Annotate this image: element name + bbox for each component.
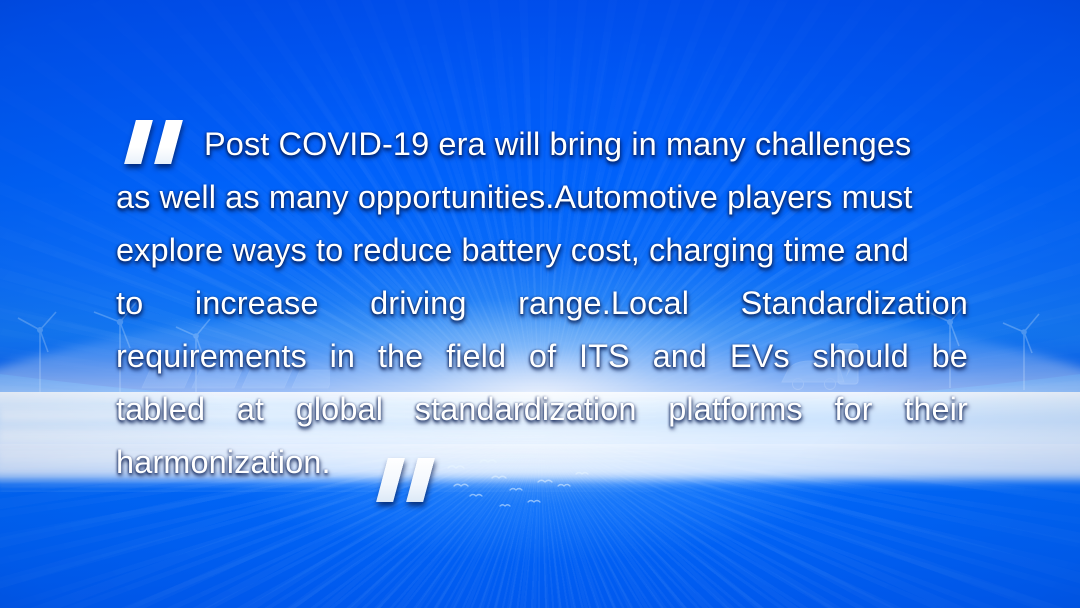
quote-text-block: Post COVID-19 era will bring in many cha… [116,118,968,489]
quote-word: standardization [415,383,637,436]
quote-line: Post COVID-19 era will bring in many cha… [116,118,968,171]
quote-line: tabledatglobalstandardizationplatformsfo… [116,383,968,436]
quote-word: their [904,383,968,436]
quote-word: be [932,330,968,383]
quote-word: platforms [668,383,803,436]
quote-word: global [296,383,383,436]
quote-word: driving [370,277,466,330]
quote-word: Standardization [741,277,968,330]
quote-word: increase [195,277,319,330]
quote-word: should [812,330,908,383]
quote-word: of [529,330,556,383]
quote-line: toincreasedrivingrange.LocalStandardizat… [116,277,968,330]
quote-line: explore ways to reduce battery cost, cha… [116,224,968,277]
quote-word: ITS [579,330,630,383]
quote-word: to [116,277,143,330]
quote-word: EVs [730,330,790,383]
quote-word: for [834,383,872,436]
quote-word: and [653,330,708,383]
quote-word: in [330,330,356,383]
quote-word: the [378,330,423,383]
quote-word: tabled [116,383,205,436]
quote-word: field [446,330,506,383]
quote-word: at [237,383,264,436]
quote-line: harmonization. [116,436,968,489]
close-quote-icon [378,458,442,502]
quote-slide: Post COVID-19 era will bring in many cha… [0,0,1080,608]
quote-word: requirements [116,330,307,383]
quote-line: requirementsinthefieldofITSandEVsshouldb… [116,330,968,383]
quote-word: range.Local [518,277,689,330]
quote-line: as well as many opportunities.Automotive… [116,171,968,224]
